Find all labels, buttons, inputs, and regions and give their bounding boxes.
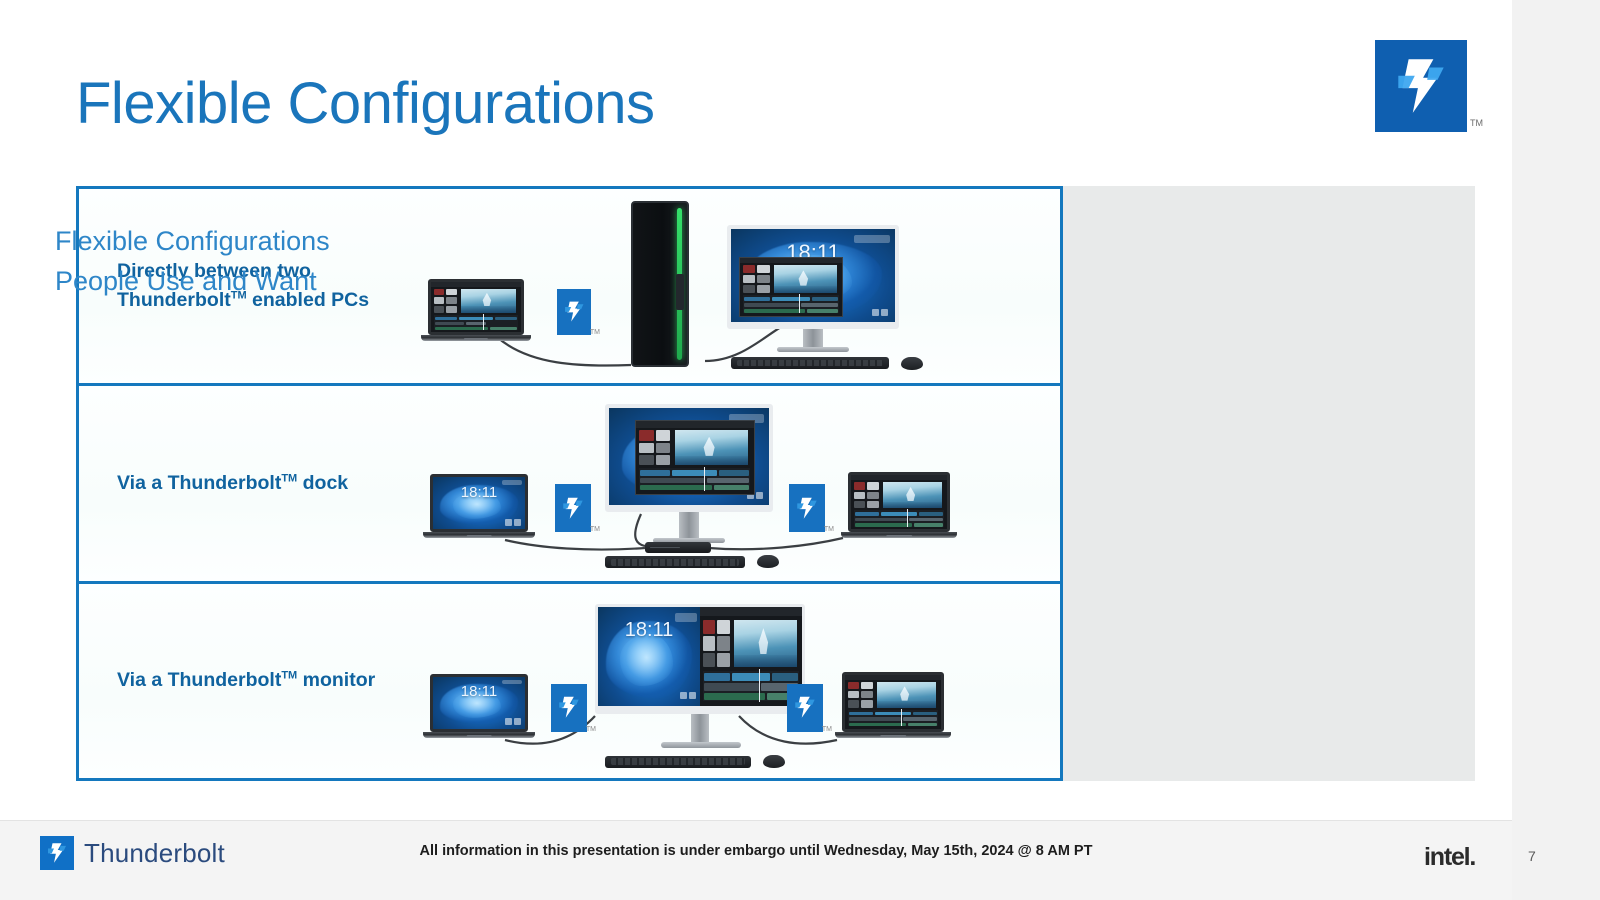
monitor-neck [691, 714, 709, 742]
monitor-screen-content: 18:11 [731, 229, 895, 322]
screen-clock: 18:11 [433, 683, 525, 700]
thunderbolt-badge-icon: TM [787, 684, 823, 732]
wide-monitor-device: 18:11 [595, 604, 805, 752]
monitor-left-half: 18:11 [598, 607, 700, 706]
monitor-neck [679, 512, 699, 538]
video-editor-app [845, 675, 941, 729]
laptop-screen: 18:11 [430, 474, 528, 532]
monitor-foot [661, 742, 741, 748]
video-editor-window [739, 257, 843, 317]
screen-corner-icons [505, 519, 521, 526]
row-label-via-monitor: Via a ThunderboltTM monitor [79, 666, 409, 695]
monitor-device: 18:11 [727, 225, 899, 355]
row-label-line2-tail: monitor [297, 669, 375, 691]
monitor-screen: 18:11 [595, 604, 805, 714]
thunderbolt-badge-icon: TM [551, 684, 587, 732]
tower-case [631, 201, 689, 367]
screen-taskbar-tray [502, 480, 522, 485]
monitor-foot [777, 347, 849, 352]
laptop-screen [848, 472, 950, 532]
screen-clock: 18:11 [598, 619, 700, 642]
slide-content-area: Flexible Configurations TM Directly betw… [0, 0, 1512, 820]
page-title: Flexible Configurations [76, 70, 654, 137]
badge-trademark: TM [590, 526, 600, 533]
slide-right-gutter [1512, 0, 1600, 900]
laptop-base [841, 532, 957, 538]
laptop-base [423, 732, 535, 738]
laptop-device [841, 472, 957, 538]
laptop-screen-content: 18:11 [433, 677, 525, 729]
video-editor-app [851, 475, 947, 529]
badge-trademark: TM [822, 726, 832, 733]
video-editor-app [431, 282, 521, 332]
row-artwork-direct-pc-to-pc: TM [409, 189, 1060, 383]
thunderbolt-badge-icon: TM [789, 484, 825, 532]
video-editor-window [635, 420, 755, 495]
laptop-device: 18:11 [423, 674, 535, 738]
monitor-screen: 18:11 [727, 225, 899, 329]
screen-corner-icons [505, 718, 521, 725]
thunderbolt-logo-trademark: TM [1470, 118, 1483, 128]
laptop-base [835, 732, 951, 738]
intel-logo: intel. [1424, 843, 1475, 872]
badge-trademark: TM [590, 329, 600, 336]
row-artwork-via-monitor: 18:11 TM [409, 584, 1060, 778]
thunderbolt-dock-device [645, 542, 711, 553]
screen-corner-icons [680, 692, 696, 699]
keyboard-device [605, 556, 745, 568]
page-number: 7 [1528, 848, 1536, 864]
screen-taskbar-tray [854, 235, 890, 243]
laptop-screen-content [431, 282, 521, 332]
screen-taskbar-tray [675, 613, 697, 622]
screen-clock: 18:11 [433, 484, 525, 501]
thunderbolt-badge-icon: TM [555, 484, 591, 532]
thunderbolt-logo-icon [1375, 40, 1467, 132]
trademark-symbol: TM [281, 473, 297, 485]
laptop-base [421, 335, 531, 341]
row-label-line1: Via a Thunderbolt [117, 669, 281, 691]
laptop-device [835, 672, 951, 738]
screen-taskbar-tray [502, 680, 522, 685]
embargo-notice: All information in this presentation is … [0, 843, 1512, 859]
laptop-screen [842, 672, 944, 732]
laptop-screen-content [845, 675, 941, 729]
badge-trademark: TM [824, 526, 834, 533]
laptop-screen [428, 279, 524, 335]
row-label-line1: Via a Thunderbolt [117, 472, 281, 494]
monitor-screen: 18:11 [605, 404, 773, 512]
desktop-tower-device [631, 201, 689, 367]
right-callout-text: Flexible Configurations People Use and W… [55, 222, 355, 302]
right-callout-panel [1063, 186, 1475, 781]
table-row: Via a ThunderboltTM monitor [79, 581, 1060, 778]
laptop-base [423, 532, 535, 538]
row-artwork-via-dock: 18:11 TM [409, 386, 1060, 580]
monitor-device: 18:11 [605, 404, 773, 552]
mouse-device [901, 357, 923, 370]
mouse-device [757, 555, 779, 568]
tower-ports [676, 274, 684, 310]
monitor-neck [803, 329, 823, 347]
row-label-via-dock: Via a ThunderboltTM dock [79, 469, 409, 498]
laptop-screen-content [851, 475, 947, 529]
monitor-screen-content: 18:11 [609, 408, 769, 505]
laptop-device [421, 279, 531, 341]
slide: Flexible Configurations TM Directly betw… [0, 0, 1600, 900]
row-label-line2-tail: dock [297, 472, 348, 494]
table-row: Via a ThunderboltTM dock [79, 383, 1060, 580]
mouse-device [763, 755, 785, 768]
laptop-screen: 18:11 [430, 674, 528, 732]
laptop-device: 18:11 [423, 474, 535, 538]
screen-corner-icons [872, 309, 888, 316]
monitor-screen-content: 18:11 [598, 607, 802, 706]
keyboard-device [605, 756, 751, 768]
laptop-screen-content: 18:11 [433, 477, 525, 529]
keyboard-device [731, 357, 889, 369]
trademark-symbol: TM [281, 670, 297, 682]
thunderbolt-badge-icon: TM [557, 289, 591, 335]
